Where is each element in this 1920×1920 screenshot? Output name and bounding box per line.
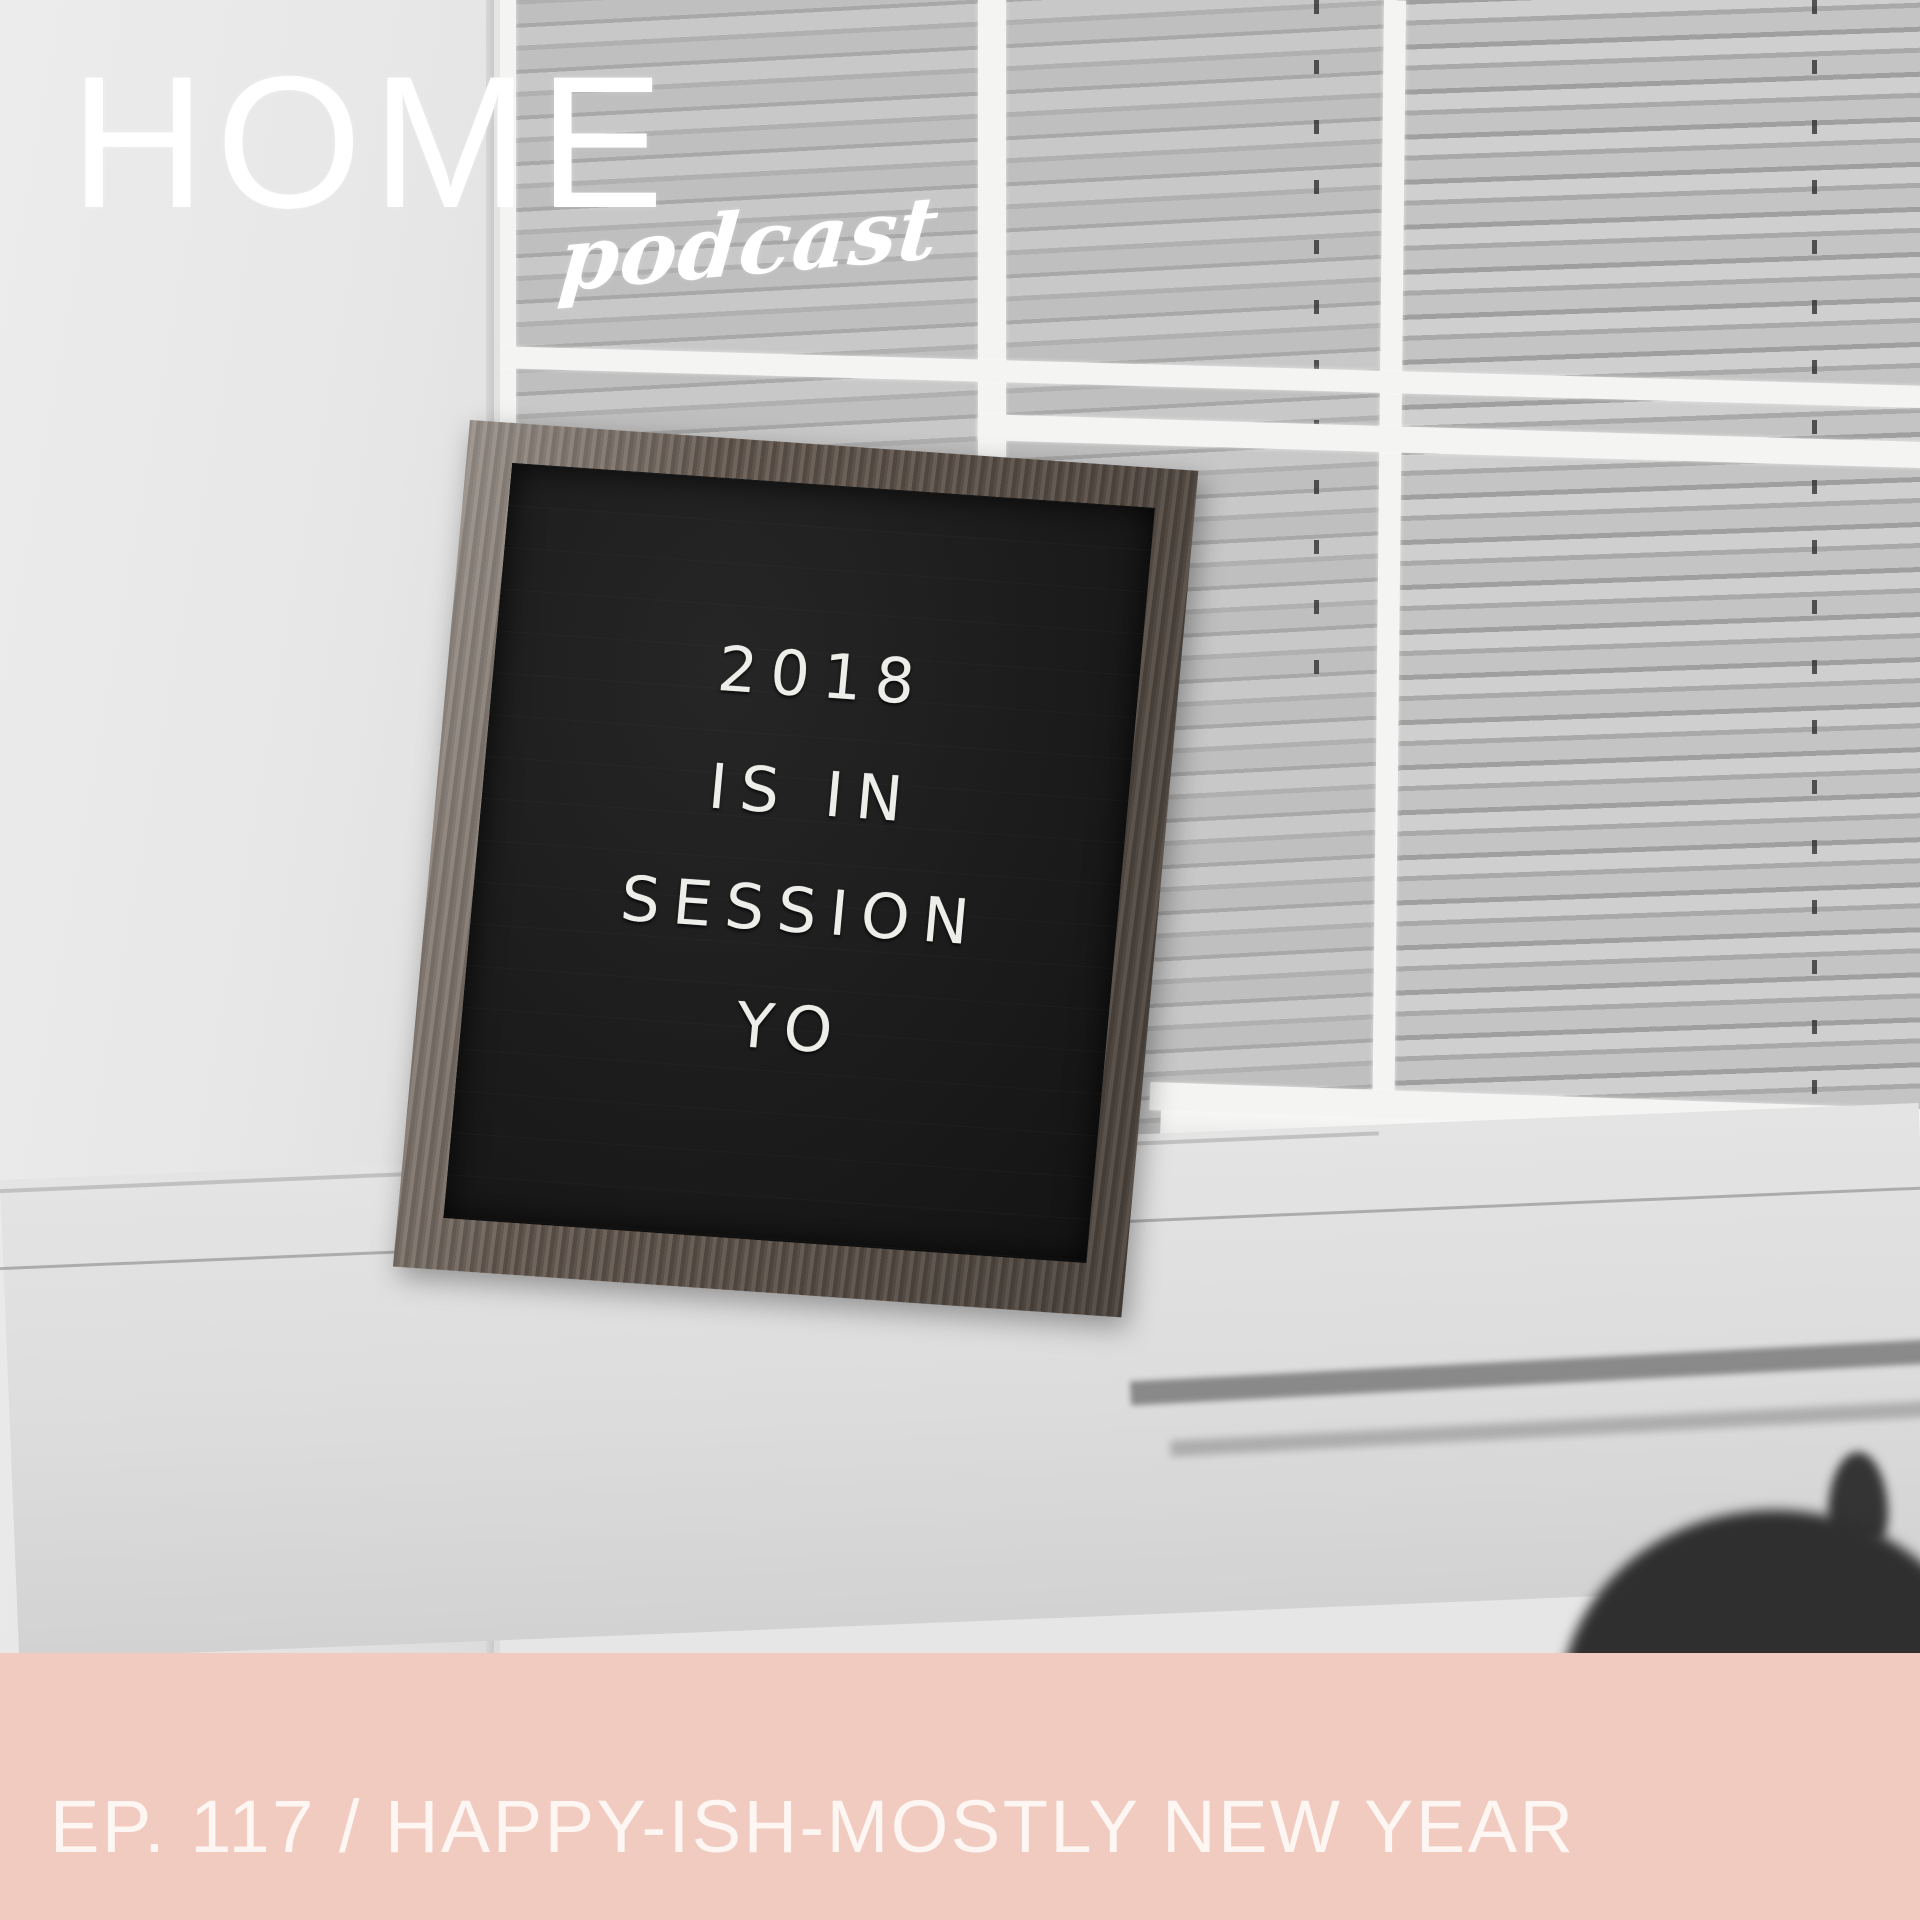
episode-banner: EP. 117 / HAPPY-ISH-MOSTLY NEW YEAR — [0, 1653, 1920, 1920]
blind-cord-left — [1314, 0, 1319, 700]
brand-lockup: HOME podcast — [70, 44, 970, 240]
letterboard: 2018 IS IN SESSION YO — [393, 420, 1198, 1317]
episode-title: EP. 117 / HAPPY-ISH-MOSTLY NEW YEAR — [50, 1787, 1876, 1867]
letterboard-felt-panel: 2018 IS IN SESSION YO — [444, 463, 1155, 1263]
podcast-cover-art: 2018 IS IN SESSION YO HOME podcast EP. 1… — [0, 0, 1920, 1920]
blind-cord-right — [1812, 0, 1817, 1180]
letterboard-message: 2018 IS IN SESSION YO — [458, 595, 1143, 1110]
background-photo: 2018 IS IN SESSION YO — [0, 0, 1920, 1656]
